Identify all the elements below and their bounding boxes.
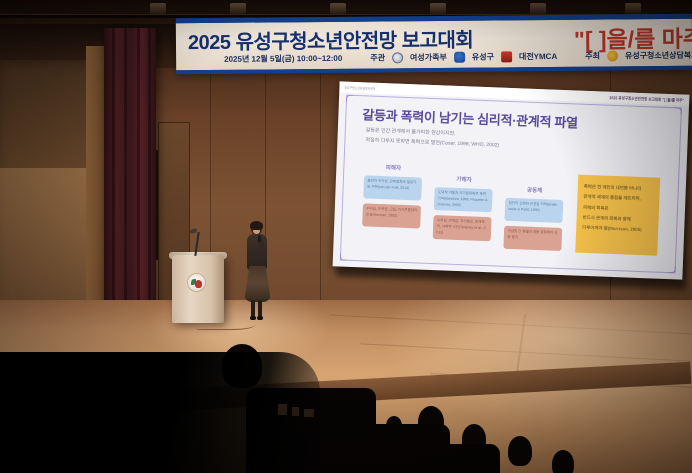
column-card: 수치심, 죄책감, 자기혐오, 관계회피, 사회적 낙인(Tangney et …	[433, 215, 492, 241]
organizer-label: 주최	[585, 51, 600, 62]
presenter	[243, 222, 273, 324]
slide-header-right: 2025 유성구청소년안전망 보고대회 "[ ]을/를 마주"	[609, 94, 684, 103]
frame-corner-icon	[675, 107, 682, 114]
column-card: 도덕적 이탈과 자기정당화로 폭력 지속(Bandura, 1999; Paqu…	[434, 187, 493, 213]
auditorium-scene: 2025 유성구청소년안전망 보고대회 "[ ]을/를 마주 2025년 12월…	[0, 0, 692, 473]
host-label: 주관	[370, 52, 385, 63]
column-community: 공동체 집단의 신뢰와 안전감 저하(Braithwaite & Pettit,…	[503, 168, 564, 256]
column-victim: 피해자 불안과 과각성, 관계철회로 일상기능 저하(van der Kolk,…	[361, 162, 422, 250]
gov-emblem-icon	[392, 52, 403, 63]
stage-lamp-icon	[330, 3, 346, 14]
handheld-microphone-icon	[258, 235, 261, 242]
stage-lamp-icon	[430, 3, 446, 14]
column-header: 공동체	[506, 185, 564, 195]
yuseong-gu-icon	[454, 52, 465, 63]
slide-header-left: 유성구청소년상담복지센터	[344, 84, 375, 90]
column-card: 구성원 간 분열과 갈등 공동체의 신뢰 붕괴	[503, 226, 562, 251]
sponsor-name-0: 여성가족부	[410, 52, 447, 63]
slide-columns: 피해자 불안과 과각성, 관계철회로 일상기능 저하(van der Kolk,…	[361, 162, 564, 256]
projection-screen: 유성구청소년상담복지센터 2025 유성구청소년안전망 보고대회 "[ ]을/를…	[333, 81, 690, 279]
column-perpetrator: 가해자 도덕적 이탈과 자기정당화로 폭력 지속(Bandura, 1999; …	[432, 165, 493, 253]
column-card: 불안과 과각성, 관계철회로 일상기능 저하(van der Kolk, 201…	[363, 175, 422, 200]
frame-corner-icon	[340, 253, 347, 260]
foreground-seating-shadow	[0, 352, 320, 473]
column-header: 피해자	[364, 162, 422, 172]
table-items	[278, 398, 328, 416]
organizer-name: 유성구청소년상담복지센터	[625, 50, 692, 62]
frame-corner-icon	[669, 266, 676, 273]
center-emblem-icon	[607, 50, 618, 61]
stage-lamp-icon	[150, 3, 166, 14]
organization-emblem-icon	[187, 273, 206, 292]
ymca-icon	[501, 51, 512, 62]
banner-title: 2025 유성구청소년안전망 보고대회	[188, 24, 474, 55]
stage-lamp-icon	[230, 3, 246, 14]
podium[interactable]	[172, 255, 224, 323]
sponsor-name-2: 대전YMCA	[519, 51, 557, 62]
sponsor-name-1: 유성구	[472, 51, 494, 62]
banner-datetime: 2025년 12월 5일(금) 10:00~12:00	[224, 53, 342, 65]
stage-lamp-icon	[530, 3, 546, 14]
column-card: 집단의 신뢰와 안전감 저하(Braithwaite & Pettit, 199…	[504, 198, 563, 223]
stage-lamp-icon	[625, 3, 641, 14]
callout-line: 다루어져야 함(Morrison, 2005)	[582, 223, 652, 236]
column-header: 가해자	[435, 174, 493, 184]
column-card: 수치심, 무력감, 고립, 자기존중감의 손상(Herman, 1992)	[362, 203, 421, 228]
frame-corner-icon	[346, 95, 353, 102]
slide-callout-box: 폭력은 한 개인의 내면뿐 아니라 관계적 세계의 통합을 깨뜨리며, 피해의 …	[575, 175, 660, 256]
event-banner: 2025 유성구청소년안전망 보고대회 "[ ]을/를 마주 2025년 12월…	[176, 14, 692, 75]
